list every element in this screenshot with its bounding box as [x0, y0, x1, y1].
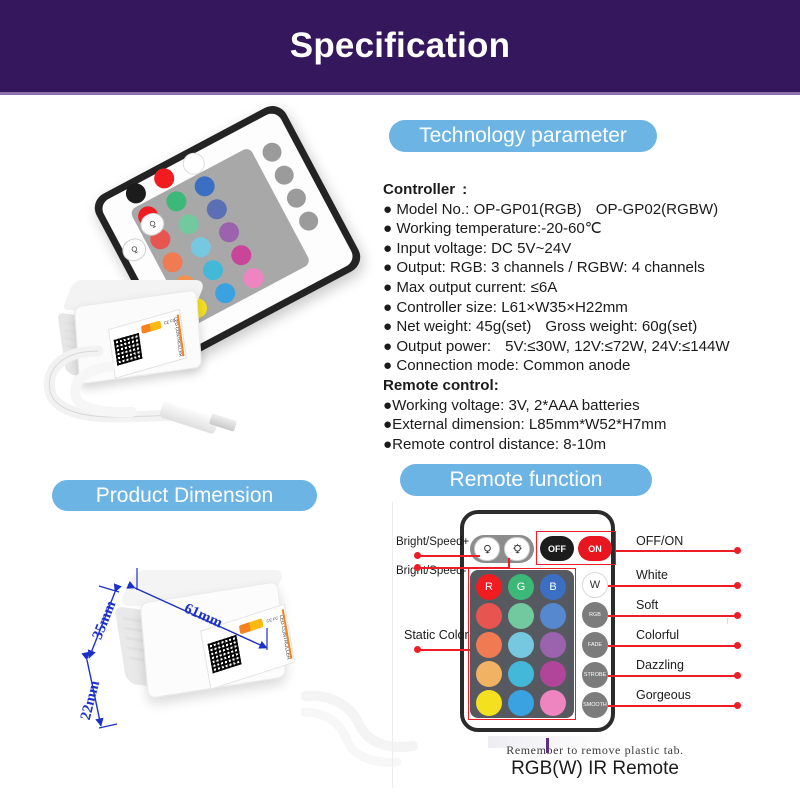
color-key[interactable] [540, 661, 566, 687]
spec-item: ● Output: RGB: 3 channels / RGBW: 4 chan… [383, 258, 795, 278]
label-gorgeous: Gorgeous [636, 688, 691, 702]
photo-side-key [296, 208, 322, 234]
white-button[interactable]: W [582, 572, 608, 598]
color-key-red[interactable]: R [476, 574, 502, 600]
plastic-tab-note: Remember to remove plastic tab. [460, 743, 730, 758]
callout-line [418, 567, 510, 569]
photo-side-key [259, 139, 285, 165]
label-bright-speed-up: Bright/Speed+ [396, 536, 469, 548]
color-key[interactable] [476, 632, 502, 658]
remote-function-diagram: OFF ON R G B W RGB FADE STROBE SMOOTH Br… [390, 500, 800, 790]
rgb-button[interactable]: RGB [582, 602, 608, 628]
callout-line [608, 645, 738, 647]
product-photo-controller-and-remote: CE FC LED CONTROLLER [40, 130, 380, 460]
callout-line [608, 615, 738, 617]
callout-dot [734, 642, 741, 649]
color-key-blue[interactable]: B [540, 574, 566, 600]
remote-caption: RGB(W) IR Remote [460, 758, 730, 780]
callout-line [608, 705, 738, 707]
callout-dot [734, 672, 741, 679]
color-key[interactable] [508, 603, 534, 629]
color-key[interactable] [540, 690, 566, 716]
fade-button[interactable]: FADE [582, 632, 608, 658]
dimension-arrows [55, 530, 385, 780]
callout-dot [734, 547, 741, 554]
badge-technology-parameter: Technology parameter [389, 120, 657, 152]
callout-line [608, 585, 738, 587]
callout-line [616, 550, 738, 552]
diagram-artifact-tick [727, 618, 728, 624]
callout-dot [734, 612, 741, 619]
diagram-edge-line [392, 502, 393, 788]
badge-remote-function: Remote function [400, 464, 652, 496]
dimension-photo: CE FC LED CONTROLLER [55, 530, 385, 780]
color-key[interactable] [476, 603, 502, 629]
off-button[interactable]: OFF [540, 536, 574, 561]
callout-dot [734, 702, 741, 709]
callout-line [418, 649, 470, 651]
callout-dot [734, 582, 741, 589]
on-button[interactable]: ON [578, 536, 612, 561]
label-soft: Soft [636, 598, 658, 612]
specification-text: Controller: ● Model No.: OP-GP01(RGB)OP-… [383, 180, 795, 454]
color-key[interactable] [476, 661, 502, 687]
color-key[interactable] [508, 661, 534, 687]
controller-cable [40, 345, 270, 460]
spec-item: ● Model No.: OP-GP01(RGB)OP-GP02(RGBW) [383, 200, 795, 220]
page-title: Specification [0, 0, 800, 92]
specification-page: Specification [0, 0, 800, 800]
spec-heading-controller: Controller: [383, 180, 795, 200]
color-key[interactable] [508, 632, 534, 658]
photo-side-key [284, 185, 310, 211]
spec-item: ● Controller size: L61×W35×H22mm [383, 298, 795, 318]
spec-item: ●Working voltage: 3V, 2*AAA batteries [383, 396, 795, 416]
label-dazzling: Dazzling [636, 658, 684, 672]
smooth-button[interactable]: SMOOTH [582, 692, 608, 718]
callout-line [418, 555, 480, 557]
color-key[interactable] [508, 690, 534, 716]
color-key[interactable] [540, 603, 566, 629]
spec-item: ● Working temperature:-20-60℃ [383, 219, 795, 239]
spec-item: ● Output power:5V:≤30W, 12V:≤72W, 24V:≤1… [383, 337, 795, 357]
spec-item: ● Max output current: ≤6A [383, 278, 795, 298]
spec-item: ●External dimension: L85mm*W52*H7mm [383, 415, 795, 435]
banner-underline [0, 92, 800, 95]
color-key[interactable] [540, 632, 566, 658]
badge-product-dimension: Product Dimension [52, 480, 317, 511]
photo-side-key [271, 162, 297, 188]
label-static-color: Static Color [404, 628, 469, 642]
label-colorful: Colorful [636, 628, 679, 642]
spec-item: ● Net weight: 45g(set)Gross weight: 60g(… [383, 317, 795, 337]
bright-speed-up-button[interactable] [474, 537, 500, 561]
text-cursor-artifact [546, 738, 549, 753]
color-key-green[interactable]: G [508, 574, 534, 600]
spec-item: ● Connection mode: Common anode [383, 356, 795, 376]
spec-heading-remote-control: Remote control: [383, 376, 795, 396]
color-key[interactable] [476, 690, 502, 716]
callout-line [608, 675, 738, 677]
strobe-button[interactable]: STROBE [582, 662, 608, 688]
spec-item: ● Input voltage: DC 5V~24V [383, 239, 795, 259]
label-off-on: OFF/ON [636, 534, 683, 548]
label-white: White [636, 568, 668, 582]
callout-line [508, 558, 510, 568]
spec-item: ●Remote control distance: 8-10m [383, 435, 795, 455]
